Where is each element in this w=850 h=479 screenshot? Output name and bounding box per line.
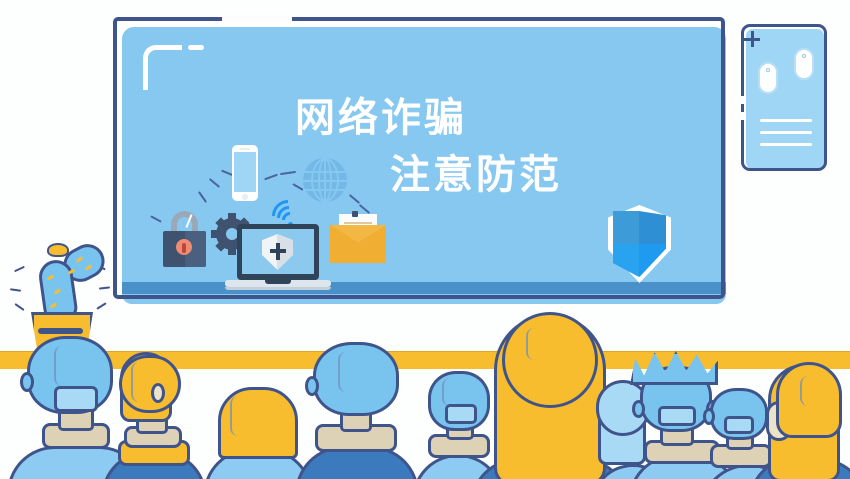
title-line-2: 注意防范: [390, 153, 562, 197]
smartphone-screen: [234, 152, 256, 192]
poster-tag: [794, 48, 814, 80]
envelope-pin: [352, 211, 358, 217]
poster-text-line: [760, 143, 812, 146]
poster-frame-gap: [739, 96, 745, 104]
board-frame-gap: [222, 13, 292, 22]
poster-text-line: [760, 119, 812, 122]
letter-line: [344, 222, 372, 224]
corner-dash-accent: [188, 45, 204, 50]
shield-quadrant: [639, 211, 666, 244]
poster-frame-gap: [739, 112, 745, 120]
globe-meridian: [318, 158, 332, 202]
shield-plus-horizontal: [270, 249, 286, 253]
laptop-base-shadow: [225, 287, 331, 290]
illustration-canvas: 网络诈骗 注意防范: [0, 0, 850, 479]
plus-icon: [744, 31, 760, 47]
smartphone-home-button: [242, 194, 248, 200]
pot-band: [38, 328, 83, 334]
board-title-block: 网络诈骗 注意防范: [122, 92, 726, 212]
poster-tag: [758, 62, 778, 94]
laptop-trackpad-notch: [265, 280, 291, 284]
shield-quadrant: [613, 211, 639, 244]
padlock-key-slot: [182, 243, 186, 253]
poster-text-line: [760, 131, 812, 134]
corner-bracket-accent: [143, 45, 182, 90]
smartphone-speaker: [240, 148, 250, 150]
title-line-1: 网络诈骗: [295, 96, 467, 140]
